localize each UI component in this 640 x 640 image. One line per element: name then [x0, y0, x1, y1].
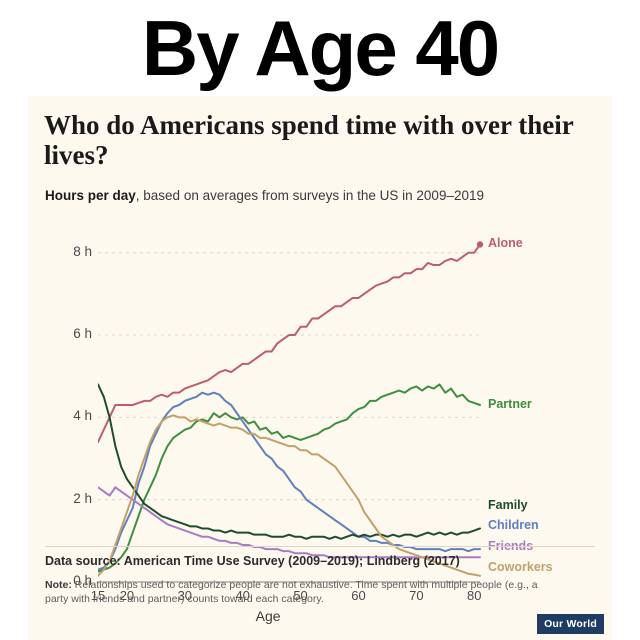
series-endpoint-alone	[477, 241, 483, 247]
series-label-family: Family	[488, 498, 528, 512]
chart-card: Who do Americans spend time with over th…	[28, 96, 612, 640]
subtitle-bold: Hours per day	[45, 188, 136, 203]
chart-subtitle: Hours per day, based on averages from su…	[45, 188, 605, 203]
screenshot-root: By Age 40 Who do Americans spend time wi…	[0, 0, 640, 640]
series-line-children	[98, 393, 480, 570]
subtitle-rest: , based on averages from surveys in the …	[136, 188, 484, 203]
series-label-children: Children	[488, 518, 539, 532]
y-tick-label: 8 h	[52, 244, 92, 259]
series-label-partner: Partner	[488, 397, 532, 411]
x-axis-title: Age	[256, 608, 281, 624]
y-tick-label: 6 h	[52, 326, 92, 341]
note-text: Relationships used to categorize people …	[45, 579, 538, 605]
note-label: Note:	[45, 579, 72, 591]
series-label-alone: Alone	[488, 236, 523, 250]
data-source: Data source: American Time Use Survey (2…	[45, 554, 605, 568]
y-tick-label: 2 h	[52, 491, 92, 506]
chart-note: Note: Relationships used to categorize p…	[45, 578, 545, 606]
footer-divider	[45, 546, 595, 547]
series-line-alone	[98, 244, 480, 442]
headline: By Age 40	[0, 0, 640, 96]
owid-badge: Our World	[537, 614, 604, 634]
y-tick-label: 4 h	[52, 408, 92, 423]
chart-title: Who do Americans spend time with over th…	[44, 110, 604, 170]
